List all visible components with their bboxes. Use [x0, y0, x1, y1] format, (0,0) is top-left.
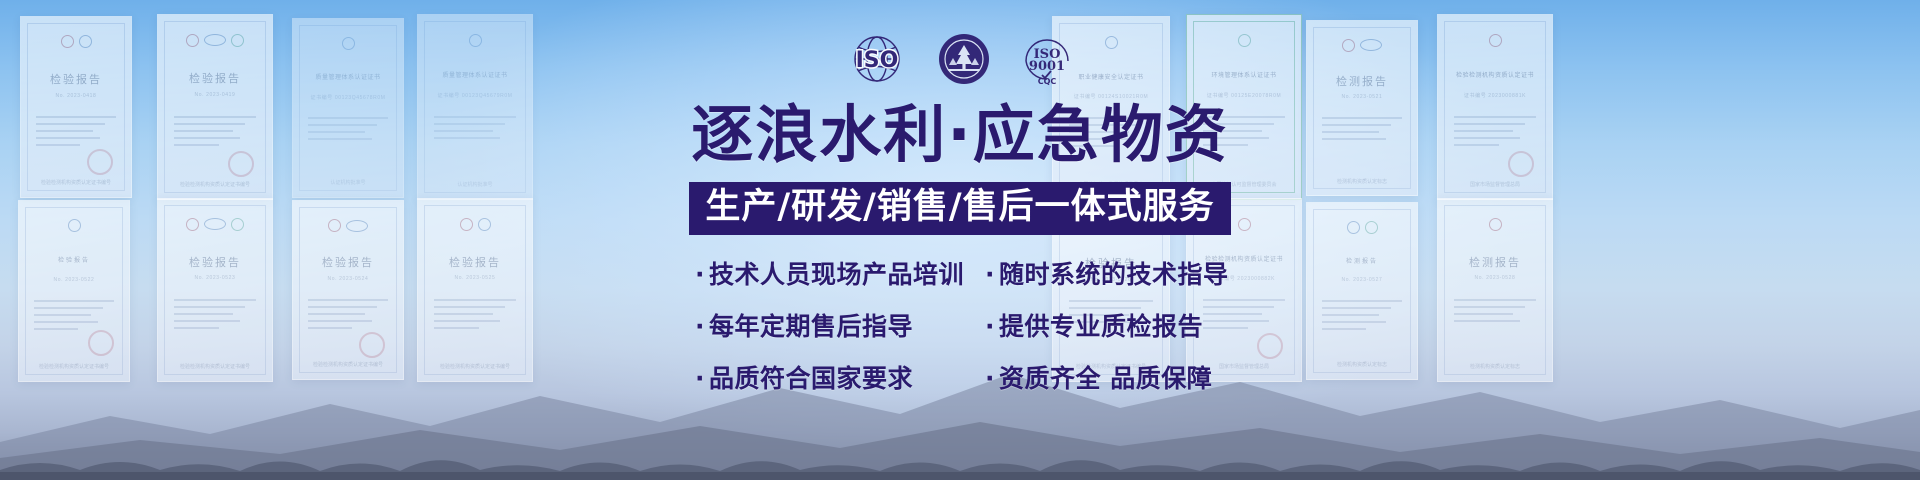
certificate-card: 检验报告 No. 2023-0418 检验检测机构资质认定证书编号	[20, 16, 132, 198]
certificate-subtitle: No. 2023-0527	[1307, 277, 1417, 283]
certificate-title: 检测报告	[1438, 254, 1552, 270]
list-item: ·提供专业质检报告	[985, 307, 1225, 343]
list-item-label: 品质符合国家要求	[709, 364, 913, 393]
bullet-icon: ·	[985, 312, 995, 341]
iso-9001-cqc-badge: ISO 9001 CQC	[1020, 33, 1074, 90]
list-item-label: 随时系统的技术指导	[999, 260, 1229, 289]
list-item: ·资质齐全 品质保障	[985, 359, 1225, 395]
certificate-title: 质量管理体系认证证书	[293, 72, 403, 81]
certificate-subtitle: No. 2023-0419	[158, 92, 272, 98]
certificate-footer: 认证机构批准号	[293, 179, 403, 186]
certificate-card: 质量管理体系认证证书 证书编号 00123Q45679R0M 认证机构批准号	[417, 14, 533, 200]
certificate-footer: 检验检测机构资质认定证书编号	[21, 179, 131, 186]
certificate-footer: 检测机构资质认定标志	[1307, 178, 1417, 185]
certificate-title: 检验报告	[293, 254, 403, 270]
svg-text:CQC: CQC	[1038, 77, 1057, 85]
list-item: ·技术人员现场产品培训	[695, 255, 971, 291]
certificate-title: 检验报告	[21, 71, 131, 87]
iso-badge-row: ISO	[846, 34, 1074, 88]
bullet-icon: ·	[985, 364, 995, 393]
certificate-subtitle: 证书编号 2023000881K	[1438, 92, 1552, 99]
bullet-icon: ·	[985, 260, 995, 289]
bullet-icon: ·	[695, 312, 705, 341]
certificate-subtitle: No. 2023-0528	[1438, 275, 1552, 281]
certificate-footer: 国家市场监督管理总局	[1438, 181, 1552, 188]
certificate-seal-icon	[228, 151, 254, 177]
list-item: ·随时系统的技术指导	[985, 255, 1225, 291]
certificate-card: 检验检测机构资质认定证书 证书编号 2023000881K 国家市场监督管理总局	[1437, 14, 1553, 200]
banner-content: ISO	[610, 0, 1310, 480]
list-item: ·品质符合国家要求	[695, 359, 971, 395]
certificate-title: 检测报告	[1307, 73, 1417, 89]
certificate-title: 检验报告	[418, 254, 532, 270]
certificate-title: 检测报告	[1307, 256, 1417, 265]
bullet-icon: ·	[695, 364, 705, 393]
list-item: ·每年定期售后指导	[695, 307, 971, 343]
service-tagline-bar: 生产/研发/销售/售后一体式服务	[689, 182, 1230, 235]
certificate-subtitle: 证书编号 00123Q45678R0M	[293, 94, 403, 101]
certificate-subtitle: No. 2023-0525	[418, 275, 532, 281]
iso-14000-seal-badge	[938, 33, 990, 90]
certificate-title: 检验报告	[158, 70, 272, 86]
list-item-label: 技术人员现场产品培训	[709, 260, 964, 289]
certificate-footer: 检验检测机构资质认定证书编号	[158, 181, 272, 188]
list-item-label: 资质齐全 品质保障	[999, 364, 1212, 393]
certificate-subtitle: No. 2023-0523	[158, 275, 272, 281]
certificate-subtitle: No. 2023-0418	[21, 93, 131, 99]
certificate-title: 检验报告	[19, 255, 129, 264]
certificate-footer: 认证机构批准号	[418, 181, 532, 188]
list-item-label: 每年定期售后指导	[709, 312, 913, 341]
certificate-subtitle: No. 2023-0521	[1307, 94, 1417, 100]
promo-banner: 检验报告 No. 2023-0418 检验检测机构资质认定证书编号 检验报告 N…	[0, 0, 1920, 480]
certificate-seal-icon	[1508, 151, 1534, 177]
certificate-subtitle: No. 2023-0524	[293, 276, 403, 282]
list-item-label: 提供专业质检报告	[999, 312, 1203, 341]
svg-text:9001: 9001	[1029, 59, 1065, 74]
certificate-title: 质量管理体系认证证书	[418, 70, 532, 79]
certificate-card: 检验报告 No. 2023-0419 检验检测机构资质认定证书编号	[157, 14, 273, 200]
certificate-card: 质量管理体系认证证书 证书编号 00123Q45678R0M 认证机构批准号	[292, 18, 404, 198]
bullet-icon: ·	[695, 260, 705, 289]
certificate-title: 检验报告	[158, 254, 272, 270]
iso-globe-badge: ISO	[846, 34, 908, 89]
certificate-subtitle: No. 2023-0522	[19, 277, 129, 283]
page-title: 逐浪水利·应急物资	[691, 102, 1229, 168]
certificate-card: 检测报告 No. 2023-0521 检测机构资质认定标志	[1306, 20, 1418, 196]
svg-text:ISO: ISO	[856, 48, 899, 73]
certificate-title: 检验检测机构资质认定证书	[1438, 70, 1552, 79]
certificate-subtitle: 证书编号 00123Q45679R0M	[418, 92, 532, 99]
feature-list: ·技术人员现场产品培训 ·随时系统的技术指导 ·每年定期售后指导 ·提供专业质检…	[695, 255, 1225, 395]
